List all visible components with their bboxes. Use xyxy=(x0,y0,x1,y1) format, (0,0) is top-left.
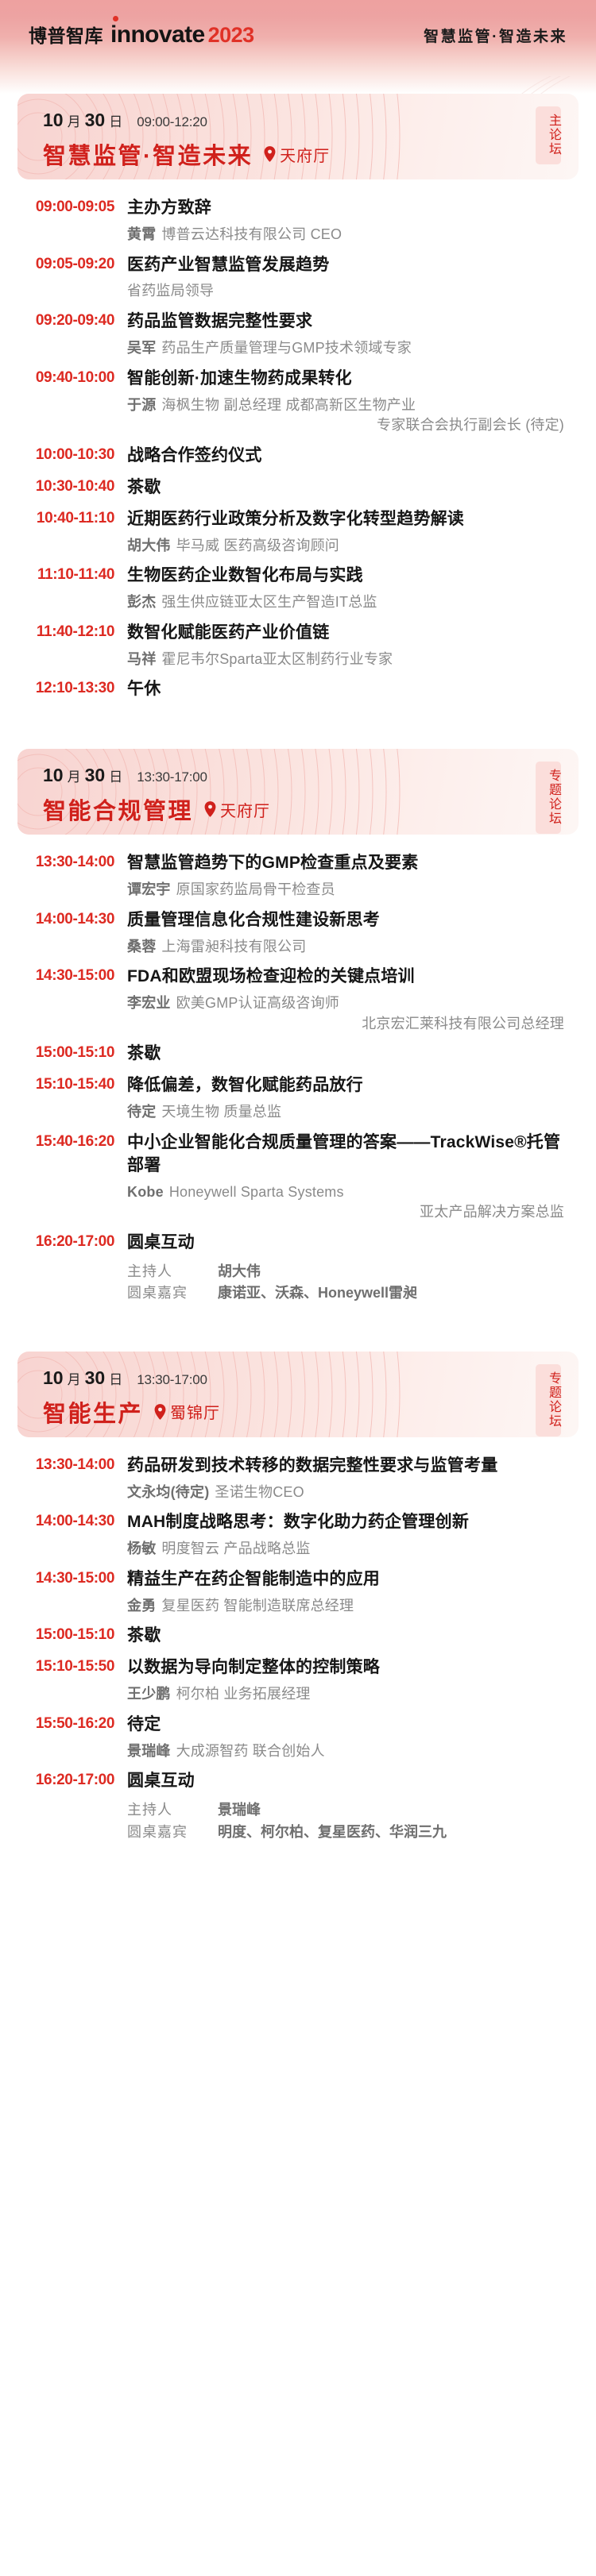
agenda-row-title: 主办方致辞 xyxy=(127,197,566,220)
agenda-row-title: 精益生产在药企智能制造中的应用 xyxy=(127,1568,566,1591)
session-tag-badge: 主论坛 xyxy=(536,106,561,164)
agenda-row: 11:10-11:40生物医药企业数智化布局与实践彭杰强生供应链亚太区生产智造I… xyxy=(22,565,571,613)
agenda-row-body: 近期医药行业政策分析及数字化转型趋势解读胡大伟毕马威 医药高级咨询顾问 xyxy=(127,508,571,557)
agenda-row-time: 10:30-10:40 xyxy=(22,476,127,496)
agenda-row-title: 智能创新·加速生物药成果转化 xyxy=(127,368,566,391)
session-venue-wrap: 蜀锦厅 xyxy=(154,1400,220,1423)
agenda-row-title: 降低偏差，数智化赋能药品放行 xyxy=(127,1074,566,1097)
agenda-row-title: 药品研发到技术转移的数据完整性要求与监管考量 xyxy=(127,1455,566,1478)
agenda-row: 10:40-11:10近期医药行业政策分析及数字化转型趋势解读胡大伟毕马威 医药… xyxy=(22,508,571,557)
agenda-row-title: 智慧监管趋势下的GMP检查重点及要素 xyxy=(127,852,566,875)
agenda-row-body: 圆桌互动主持人景瑞峰圆桌嘉宾明度、柯尔柏、复星医药、华润三九 xyxy=(127,1770,571,1842)
speaker-org: Honeywell Sparta Systems xyxy=(169,1184,344,1200)
agenda-row: 12:10-13:30午休 xyxy=(22,678,571,701)
agenda-row-time: 14:30-15:00 xyxy=(22,1568,127,1587)
agenda-row: 09:05-09:20医药产业智慧监管发展趋势省药监局领导 xyxy=(22,254,571,303)
agenda-row: 13:30-14:00药品研发到技术转移的数据完整性要求与监管考量文永均(待定)… xyxy=(22,1455,571,1503)
logo-dot-icon xyxy=(113,16,118,21)
agenda-row-time: 13:30-14:00 xyxy=(22,1455,127,1474)
session-venue: 蜀锦厅 xyxy=(170,1400,220,1423)
agenda-row: 10:00-10:30战略合作签约仪式 xyxy=(22,445,571,468)
agenda-row-body: 药品研发到技术转移的数据完整性要求与监管考量文永均(待定)圣诺生物CEO xyxy=(127,1455,571,1503)
roundtable-value: 明度、柯尔柏、复星医药、华润三九 xyxy=(218,1822,566,1843)
agenda-row-speaker: 谭宏宇原国家药监局骨干检查员 xyxy=(127,880,566,900)
sessions-container: 10月30日09:00-12:20智慧监管·智造未来天府厅主论坛09:00-09… xyxy=(0,94,596,1890)
agenda-row-body: 智慧监管趋势下的GMP检查重点及要素谭宏宇原国家药监局骨干检查员 xyxy=(127,852,571,900)
agenda-page: 博普智库 innovate 2023 智慧监管·智造未来 10月30日09:00… xyxy=(0,0,596,2576)
agenda-row-body: FDA和欧盟现场检查迎检的关键点培训李宏业欧美GMP认证高级咨询师北京宏汇莱科技… xyxy=(127,966,571,1034)
session-date-line: 10月30日13:30-17:00 xyxy=(43,765,579,786)
agenda-row-time: 15:40-16:20 xyxy=(22,1132,127,1151)
speaker-name: 于源 xyxy=(127,397,156,413)
speaker-org: 柯尔柏 业务拓展经理 xyxy=(176,1686,311,1702)
agenda-row-speaker: 于源海枫生物 副总经理 成都高新区生物产业专家联合会执行副会长 (待定) xyxy=(127,395,566,436)
speaker-org: 欧美GMP认证高级咨询师 xyxy=(176,995,339,1011)
agenda-row-time: 09:40-10:00 xyxy=(22,368,127,387)
session-title-line: 智能生产蜀锦厅 xyxy=(43,1395,579,1429)
speaker-org: 霍尼韦尔Sparta亚太区制药行业专家 xyxy=(161,651,393,667)
speaker-org: 上海雷昶科技有限公司 xyxy=(161,939,306,954)
agenda-row: 16:20-17:00圆桌互动主持人胡大伟圆桌嘉宾康诺亚、沃森、Honeywel… xyxy=(22,1232,571,1304)
agenda-row-time: 10:00-10:30 xyxy=(22,445,127,464)
speaker-name: 待定 xyxy=(127,1104,156,1120)
speaker-org: 复星医药 智能制造联席总经理 xyxy=(161,1598,354,1614)
session-title-line: 智慧监管·智造未来天府厅 xyxy=(43,137,579,171)
speaker-name: 杨敏 xyxy=(127,1541,156,1556)
roundtable-table: 主持人胡大伟圆桌嘉宾康诺亚、沃森、Honeywell雷昶 xyxy=(127,1262,566,1304)
agenda-row-body: 以数据为导向制定整体的控制策略王少鹏柯尔柏 业务拓展经理 xyxy=(127,1656,571,1705)
agenda-row-time: 15:10-15:40 xyxy=(22,1074,127,1093)
agenda-row-speaker: 桑蓉上海雷昶科技有限公司 xyxy=(127,937,566,958)
speaker-org: 强生供应链亚太区生产智造IT总监 xyxy=(161,594,377,610)
session-header: 10月30日13:30-17:00智能合规管理天府厅专题论坛 xyxy=(17,749,579,835)
agenda-row-time: 15:50-16:20 xyxy=(22,1714,127,1733)
speaker-name: 谭宏宇 xyxy=(127,881,171,897)
agenda-row-time: 13:30-14:00 xyxy=(22,852,127,871)
session-title: 智能生产 xyxy=(43,1395,143,1429)
location-pin-icon xyxy=(264,146,276,162)
agenda-row-speaker: KobeHoneywell Sparta Systems亚太产品解决方案总监 xyxy=(127,1182,566,1223)
speaker-org: 天境生物 质量总监 xyxy=(161,1104,281,1120)
speaker-org: 博普云达科技有限公司 CEO xyxy=(161,226,342,242)
date-day: 30 xyxy=(85,765,106,786)
top-banner: 博普智库 innovate 2023 智慧监管·智造未来 xyxy=(0,0,596,94)
agenda-row: 09:00-09:05主办方致辞黄霄博普云达科技有限公司 CEO xyxy=(22,197,571,245)
session-gap xyxy=(0,1849,596,1890)
session-header: 10月30日13:30-17:00智能生产蜀锦厅专题论坛 xyxy=(17,1352,579,1437)
date-month: 10 xyxy=(43,110,64,131)
roundtable-table: 主持人景瑞峰圆桌嘉宾明度、柯尔柏、复星医药、华润三九 xyxy=(127,1800,566,1842)
agenda-row-body: 茶歇 xyxy=(127,1625,571,1648)
agenda-row: 10:30-10:40茶歇 xyxy=(22,476,571,499)
agenda-list: 13:30-14:00药品研发到技术转移的数据完整性要求与监管考量文永均(待定)… xyxy=(17,1437,579,1849)
speaker-name: 桑蓉 xyxy=(127,939,156,954)
agenda-row-body: 待定景瑞峰大成源智药 联合创始人 xyxy=(127,1714,571,1762)
agenda-row-body: 生物医药企业数智化布局与实践彭杰强生供应链亚太区生产智造IT总监 xyxy=(127,565,571,613)
agenda-row: 14:00-14:30质量管理信息化合规性建设新思考桑蓉上海雷昶科技有限公司 xyxy=(22,909,571,958)
agenda-row-title: 茶歇 xyxy=(127,476,566,499)
session-header-content: 10月30日13:30-17:00智能合规管理天府厅 xyxy=(17,749,579,826)
agenda-row-speaker: 景瑞峰大成源智药 联合创始人 xyxy=(127,1741,566,1762)
roundtable-label: 主持人 xyxy=(127,1262,203,1282)
session-tag-badge: 专题论坛 xyxy=(536,1364,561,1436)
agenda-row-speaker: 待定天境生物 质量总监 xyxy=(127,1102,566,1123)
session-venue: 天府厅 xyxy=(220,798,270,821)
speaker-name: 金勇 xyxy=(127,1598,156,1614)
agenda-row: 15:50-16:20待定景瑞峰大成源智药 联合创始人 xyxy=(22,1714,571,1762)
brand-name-cn: 博普智库 xyxy=(29,21,103,48)
agenda-row-time: 10:40-11:10 xyxy=(22,508,127,527)
agenda-row: 14:30-15:00精益生产在药企智能制造中的应用金勇复星医药 智能制造联席总… xyxy=(22,1568,571,1617)
date-month-unit: 月 xyxy=(68,1368,81,1388)
agenda-row-time: 15:10-15:50 xyxy=(22,1656,127,1676)
agenda-list: 09:00-09:05主办方致辞黄霄博普云达科技有限公司 CEO09:05-09… xyxy=(17,179,579,708)
speaker-org: 药品生产质量管理与GMP技术领域专家 xyxy=(161,340,412,356)
session-title-line: 智能合规管理天府厅 xyxy=(43,792,579,826)
brand-logo: 博普智库 innovate 2023 xyxy=(29,21,254,48)
roundtable-value: 景瑞峰 xyxy=(218,1800,566,1821)
agenda-row-speaker: 杨敏明度智云 产品战略总监 xyxy=(127,1539,566,1560)
speaker-org: 海枫生物 副总经理 成都高新区生物产业 xyxy=(161,397,416,413)
session-header: 10月30日09:00-12:20智慧监管·智造未来天府厅主论坛 xyxy=(17,94,579,179)
roundtable-label: 主持人 xyxy=(127,1800,203,1821)
agenda-row: 13:30-14:00智慧监管趋势下的GMP检查重点及要素谭宏宇原国家药监局骨干… xyxy=(22,852,571,900)
date-day-unit: 日 xyxy=(109,765,122,785)
agenda-row-speaker: 胡大伟毕马威 医药高级咨询顾问 xyxy=(127,536,566,557)
date-day: 30 xyxy=(85,1367,106,1389)
agenda-row-time: 14:30-15:00 xyxy=(22,966,127,985)
session-venue: 天府厅 xyxy=(280,143,330,166)
agenda-row-speaker: 黄霄博普云达科技有限公司 CEO xyxy=(127,225,566,245)
agenda-row-title: 午休 xyxy=(127,678,566,701)
agenda-row: 15:00-15:10茶歇 xyxy=(22,1625,571,1648)
agenda-row-title: 茶歇 xyxy=(127,1625,566,1648)
speaker-org: 省药监局领导 xyxy=(127,283,214,299)
agenda-row-time: 11:10-11:40 xyxy=(22,565,127,584)
agenda-row-title: 药品监管数据完整性要求 xyxy=(127,310,566,334)
roundtable-value: 胡大伟 xyxy=(218,1262,566,1282)
date-month: 10 xyxy=(43,765,64,786)
agenda-row: 15:10-15:50以数据为导向制定整体的控制策略王少鹏柯尔柏 业务拓展经理 xyxy=(22,1656,571,1705)
agenda-row-body: 茶歇 xyxy=(127,476,571,499)
session-header-content: 10月30日09:00-12:20智慧监管·智造未来天府厅 xyxy=(17,94,579,171)
speaker-name: 李宏业 xyxy=(127,995,171,1011)
location-pin-icon xyxy=(154,1404,166,1420)
agenda-row-time: 14:00-14:30 xyxy=(22,1511,127,1530)
banner-slogan: 智慧监管·智造未来 xyxy=(424,21,567,46)
speaker-org: 明度智云 产品战略总监 xyxy=(161,1541,310,1556)
agenda-row-body: 精益生产在药企智能制造中的应用金勇复星医药 智能制造联席总经理 xyxy=(127,1568,571,1617)
speaker-name: 吴军 xyxy=(127,340,156,356)
roundtable-label: 圆桌嘉宾 xyxy=(127,1822,203,1843)
roundtable-label: 圆桌嘉宾 xyxy=(127,1283,203,1304)
speaker-name: 景瑞峰 xyxy=(127,1743,171,1759)
agenda-row-speaker: 王少鹏柯尔柏 业务拓展经理 xyxy=(127,1684,566,1705)
agenda-list: 13:30-14:00智慧监管趋势下的GMP检查重点及要素谭宏宇原国家药监局骨干… xyxy=(17,835,579,1310)
agenda-row-time: 15:00-15:10 xyxy=(22,1625,127,1644)
date-day-unit: 日 xyxy=(109,1368,122,1388)
session-date-line: 10月30日13:30-17:00 xyxy=(43,1367,579,1389)
session-time-range: 13:30-17:00 xyxy=(137,1372,207,1388)
session-tag-badge: 专题论坛 xyxy=(536,762,561,834)
agenda-row-body: 医药产业智慧监管发展趋势省药监局领导 xyxy=(127,254,571,303)
speaker-name: 文永均(待定) xyxy=(127,1484,209,1500)
brand-year: 2023 xyxy=(208,23,254,48)
agenda-row-body: 降低偏差，数智化赋能药品放行待定天境生物 质量总监 xyxy=(127,1074,571,1123)
speaker-name: 黄霄 xyxy=(127,226,156,242)
agenda-row-body: 智能创新·加速生物药成果转化于源海枫生物 副总经理 成都高新区生物产业专家联合会… xyxy=(127,368,571,436)
session-card-1: 10月30日09:00-12:20智慧监管·智造未来天府厅主论坛09:00-09… xyxy=(0,94,596,708)
date-day-unit: 日 xyxy=(109,110,122,130)
agenda-row-body: MAH制度战略思考：数字化助力药企管理创新杨敏明度智云 产品战略总监 xyxy=(127,1511,571,1560)
agenda-row: 15:40-16:20中小企业智能化合规质量管理的答案——TrackWise®托… xyxy=(22,1132,571,1223)
agenda-row-body: 圆桌互动主持人胡大伟圆桌嘉宾康诺亚、沃森、Honeywell雷昶 xyxy=(127,1232,571,1304)
agenda-row-speaker: 省药监局领导 xyxy=(127,281,566,302)
agenda-row-body: 午休 xyxy=(127,678,571,701)
speaker-org: 圣诺生物CEO xyxy=(215,1484,304,1500)
agenda-row-body: 战略合作签约仪式 xyxy=(127,445,571,468)
agenda-row-time: 16:20-17:00 xyxy=(22,1232,127,1251)
session-venue-wrap: 天府厅 xyxy=(204,798,270,821)
agenda-row-time: 09:05-09:20 xyxy=(22,254,127,273)
agenda-row-speaker: 马祥霍尼韦尔Sparta亚太区制药行业专家 xyxy=(127,650,566,670)
speaker-name: 胡大伟 xyxy=(127,538,171,553)
agenda-row-speaker: 李宏业欧美GMP认证高级咨询师北京宏汇莱科技有限公司总经理 xyxy=(127,993,566,1034)
session-card-2: 10月30日13:30-17:00智能合规管理天府厅专题论坛13:30-14:0… xyxy=(0,749,596,1310)
agenda-row: 14:30-15:00FDA和欧盟现场检查迎检的关键点培训李宏业欧美GMP认证高… xyxy=(22,966,571,1034)
agenda-row-body: 数智化赋能医药产业价值链马祥霍尼韦尔Sparta亚太区制药行业专家 xyxy=(127,622,571,670)
agenda-row-speaker: 吴军药品生产质量管理与GMP技术领域专家 xyxy=(127,338,566,359)
agenda-row: 16:20-17:00圆桌互动主持人景瑞峰圆桌嘉宾明度、柯尔柏、复星医药、华润三… xyxy=(22,1770,571,1842)
agenda-row-title: 近期医药行业政策分析及数字化转型趋势解读 xyxy=(127,508,566,531)
session-gap xyxy=(0,1310,596,1352)
agenda-row-time: 15:00-15:10 xyxy=(22,1043,127,1062)
agenda-row-speaker: 文永均(待定)圣诺生物CEO xyxy=(127,1483,566,1503)
agenda-row-title: 生物医药企业数智化布局与实践 xyxy=(127,565,566,588)
brand-name-en: innovate xyxy=(110,21,205,48)
agenda-row-speaker: 彭杰强生供应链亚太区生产智造IT总监 xyxy=(127,592,566,613)
agenda-row-time: 16:20-17:00 xyxy=(22,1770,127,1789)
speaker-org-line2: 北京宏汇莱科技有限公司总经理 xyxy=(127,1014,566,1035)
agenda-row-title: 茶歇 xyxy=(127,1043,566,1066)
agenda-row-time: 09:20-09:40 xyxy=(22,310,127,330)
agenda-row-title: 圆桌互动 xyxy=(127,1232,566,1255)
agenda-row-body: 主办方致辞黄霄博普云达科技有限公司 CEO xyxy=(127,197,571,245)
speaker-org: 大成源智药 联合创始人 xyxy=(176,1743,325,1759)
session-card-3: 10月30日13:30-17:00智能生产蜀锦厅专题论坛13:30-14:00药… xyxy=(0,1352,596,1849)
speaker-name: 王少鹏 xyxy=(127,1686,171,1702)
speaker-name: Kobe xyxy=(127,1184,164,1200)
date-month-unit: 月 xyxy=(68,765,81,785)
agenda-row-title: 质量管理信息化合规性建设新思考 xyxy=(127,909,566,932)
agenda-row: 14:00-14:30MAH制度战略思考：数字化助力药企管理创新杨敏明度智云 产… xyxy=(22,1511,571,1560)
speaker-org: 毕马威 医药高级咨询顾问 xyxy=(176,538,339,553)
agenda-row-title: 圆桌互动 xyxy=(127,1770,566,1793)
agenda-row-time: 12:10-13:30 xyxy=(22,678,127,697)
date-month-unit: 月 xyxy=(68,110,81,130)
agenda-row-title: 中小企业智能化合规质量管理的答案——TrackWise®托管部署 xyxy=(127,1132,566,1178)
session-title: 智慧监管·智造未来 xyxy=(43,137,253,171)
agenda-row-time: 14:00-14:30 xyxy=(22,909,127,928)
speaker-org-line2: 亚太产品解决方案总监 xyxy=(127,1202,566,1223)
agenda-row-title: 以数据为导向制定整体的控制策略 xyxy=(127,1656,566,1679)
speaker-name: 马祥 xyxy=(127,651,156,667)
agenda-row: 09:20-09:40药品监管数据完整性要求吴军药品生产质量管理与GMP技术领域… xyxy=(22,310,571,359)
date-month: 10 xyxy=(43,1367,64,1389)
session-time-range: 09:00-12:20 xyxy=(137,114,207,130)
agenda-row-body: 质量管理信息化合规性建设新思考桑蓉上海雷昶科技有限公司 xyxy=(127,909,571,958)
agenda-row-time: 09:00-09:05 xyxy=(22,197,127,216)
speaker-org-line2: 专家联合会执行副会长 (待定) xyxy=(127,415,566,436)
date-day: 30 xyxy=(85,110,106,131)
agenda-row-title: FDA和欧盟现场检查迎检的关键点培训 xyxy=(127,966,566,989)
agenda-row-title: 医药产业智慧监管发展趋势 xyxy=(127,254,566,277)
agenda-row-time: 11:40-12:10 xyxy=(22,622,127,641)
location-pin-icon xyxy=(204,801,216,817)
session-title: 智能合规管理 xyxy=(43,792,193,826)
session-venue-wrap: 天府厅 xyxy=(264,143,330,166)
agenda-row-title: 待定 xyxy=(127,1714,566,1737)
agenda-row: 15:10-15:40降低偏差，数智化赋能药品放行待定天境生物 质量总监 xyxy=(22,1074,571,1123)
agenda-row-title: 战略合作签约仪式 xyxy=(127,445,566,468)
speaker-org: 原国家药监局骨干检查员 xyxy=(176,881,335,897)
roundtable-value: 康诺亚、沃森、Honeywell雷昶 xyxy=(218,1283,566,1304)
agenda-row: 11:40-12:10数智化赋能医药产业价值链马祥霍尼韦尔Sparta亚太区制药… xyxy=(22,622,571,670)
agenda-row-body: 茶歇 xyxy=(127,1043,571,1066)
agenda-row-speaker: 金勇复星医药 智能制造联席总经理 xyxy=(127,1596,566,1617)
agenda-row: 15:00-15:10茶歇 xyxy=(22,1043,571,1066)
agenda-row-body: 中小企业智能化合规质量管理的答案——TrackWise®托管部署KobeHone… xyxy=(127,1132,571,1223)
agenda-row-title: 数智化赋能医药产业价值链 xyxy=(127,622,566,645)
session-date-line: 10月30日09:00-12:20 xyxy=(43,110,579,131)
speaker-name: 彭杰 xyxy=(127,594,156,610)
session-header-content: 10月30日13:30-17:00智能生产蜀锦厅 xyxy=(17,1352,579,1429)
agenda-row: 09:40-10:00智能创新·加速生物药成果转化于源海枫生物 副总经理 成都高… xyxy=(22,368,571,436)
agenda-row-title: MAH制度战略思考：数字化助力药企管理创新 xyxy=(127,1511,566,1534)
session-gap xyxy=(0,708,596,749)
agenda-row-body: 药品监管数据完整性要求吴军药品生产质量管理与GMP技术领域专家 xyxy=(127,310,571,359)
session-time-range: 13:30-17:00 xyxy=(137,769,207,785)
